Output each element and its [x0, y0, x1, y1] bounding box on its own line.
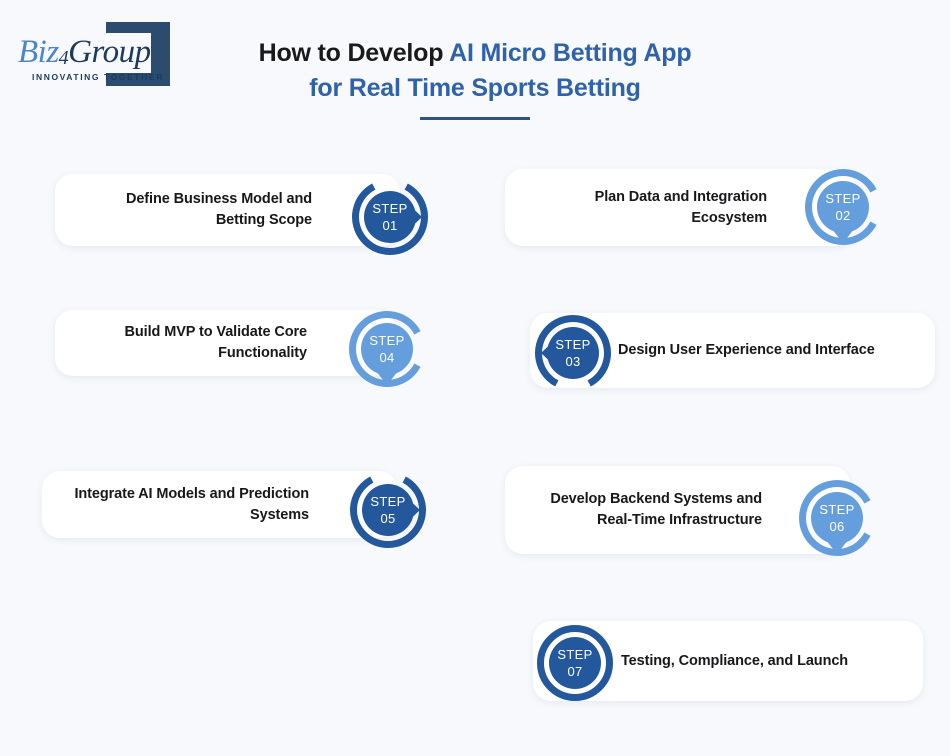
page-title: How to Develop AI Micro Betting App for … [220, 36, 730, 106]
logo-word-four: 4 [59, 47, 69, 69]
title-accent-text-1: AI Micro Betting App [449, 39, 691, 67]
step-ring-arrow-icon [338, 460, 438, 560]
step-ring-arrow-icon [525, 613, 625, 713]
step-ring-arrow-icon [337, 299, 437, 399]
step-ring-arrow-icon [340, 167, 440, 267]
title-underline-rule [420, 117, 530, 120]
step-badge-07[interactable]: STEP07 [525, 613, 625, 713]
title-plain-text: How to Develop [259, 39, 450, 67]
step-badge-04[interactable]: STEP04 [337, 299, 437, 399]
step-badge-02[interactable]: STEP02 [793, 157, 893, 257]
logo-word-group: Group [68, 34, 150, 70]
step-badge-01[interactable]: STEP01 [340, 167, 440, 267]
logo-wordmark: Biz4Group [18, 34, 148, 71]
title-line-1: How to Develop AI Micro Betting App [220, 36, 730, 71]
title-line-2: for Real Time Sports Betting [220, 71, 730, 106]
step-ring-arrow-icon [523, 303, 623, 403]
step-ring-arrow-icon [787, 468, 887, 568]
step-badge-06[interactable]: STEP06 [787, 468, 887, 568]
step-ring-arrow-icon [793, 157, 893, 257]
logo-word-biz: Biz [18, 34, 59, 70]
step-badge-05[interactable]: STEP05 [338, 460, 438, 560]
step-badge-03[interactable]: STEP03 [523, 303, 623, 403]
brand-logo: Biz4Group INNOVATING TOGETHER [18, 20, 168, 88]
page-header: Biz4Group INNOVATING TOGETHER How to Dev… [0, 0, 950, 140]
logo-tagline: INNOVATING TOGETHER [32, 72, 164, 82]
